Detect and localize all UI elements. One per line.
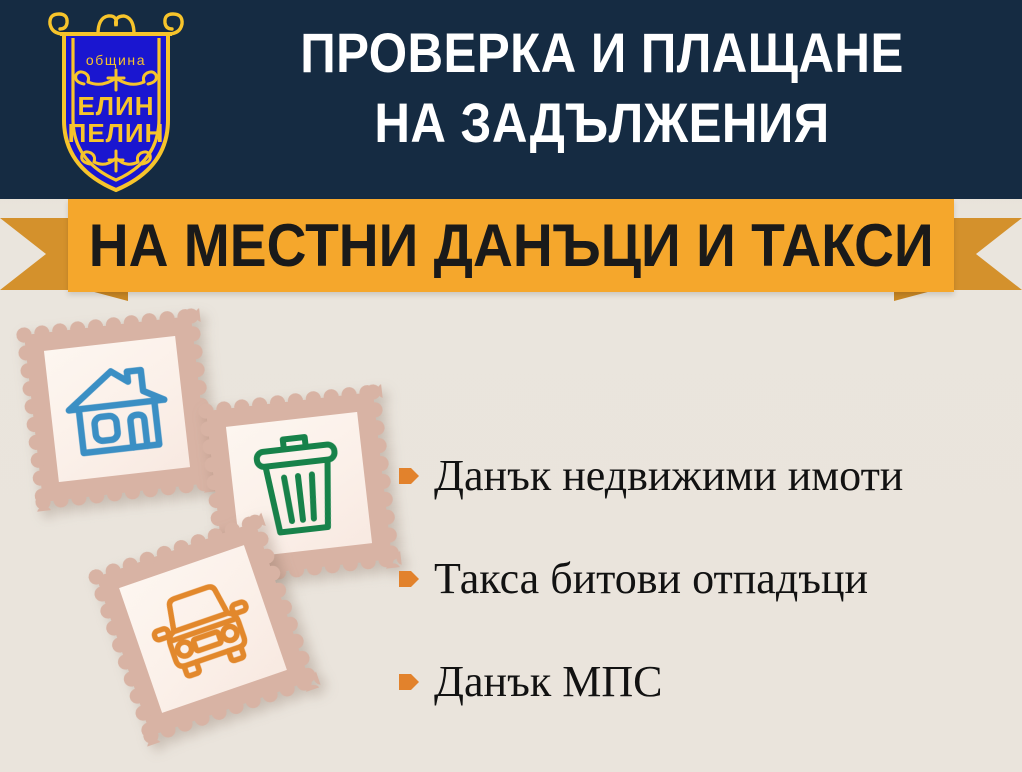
tax-type-list: Данък недвижими имоти Такса битови отпад…	[398, 424, 1012, 733]
ribbon-subtitle-text: НА МЕСТНИ ДАНЪЦИ И ТАКСИ	[89, 216, 934, 276]
header-banner: община ЕЛИН ПЕЛИН	[0, 0, 1022, 199]
municipality-crest-logo: община ЕЛИН ПЕЛИН	[40, 8, 192, 194]
list-item[interactable]: Данък недвижими имоти	[398, 424, 1012, 527]
subtitle-ribbon: НА МЕСТНИ ДАНЪЦИ И ТАКСИ	[0, 199, 1022, 299]
arrow-bullet-icon	[398, 465, 420, 487]
stamp-paper	[44, 336, 190, 482]
house-icon	[60, 355, 174, 462]
arrow-bullet-icon	[398, 568, 420, 590]
crest-name-line-1: ЕЛИН	[77, 91, 154, 121]
list-item[interactable]: Такса битови отпадъци	[398, 527, 1012, 630]
car-front-icon	[138, 571, 268, 687]
arrow-bullet-icon	[398, 671, 420, 693]
list-item-label: Данък недвижими имоти	[434, 451, 903, 501]
page-title-line-1: ПРОВЕРКА И ПЛАЩАНЕ	[245, 18, 960, 88]
list-item[interactable]: Данък МПС	[398, 630, 1012, 733]
stamp-card-property	[14, 306, 220, 512]
ribbon-banner: НА МЕСТНИ ДАНЪЦИ И ТАКСИ	[68, 199, 954, 292]
list-item-label: Такса битови отпадъци	[434, 554, 868, 604]
crest-small-label: община	[86, 52, 146, 68]
header-title-group: ПРОВЕРКА И ПЛАЩАНЕ НА ЗАДЪЛЖЕНИЯ	[196, 18, 1008, 158]
poster-canvas: община ЕЛИН ПЕЛИН	[0, 0, 1022, 772]
page-title-line-2: НА ЗАДЪЛЖЕНИЯ	[245, 88, 960, 158]
list-item-label: Данък МПС	[434, 657, 662, 707]
crest-name-line-2: ПЕЛИН	[68, 118, 165, 148]
